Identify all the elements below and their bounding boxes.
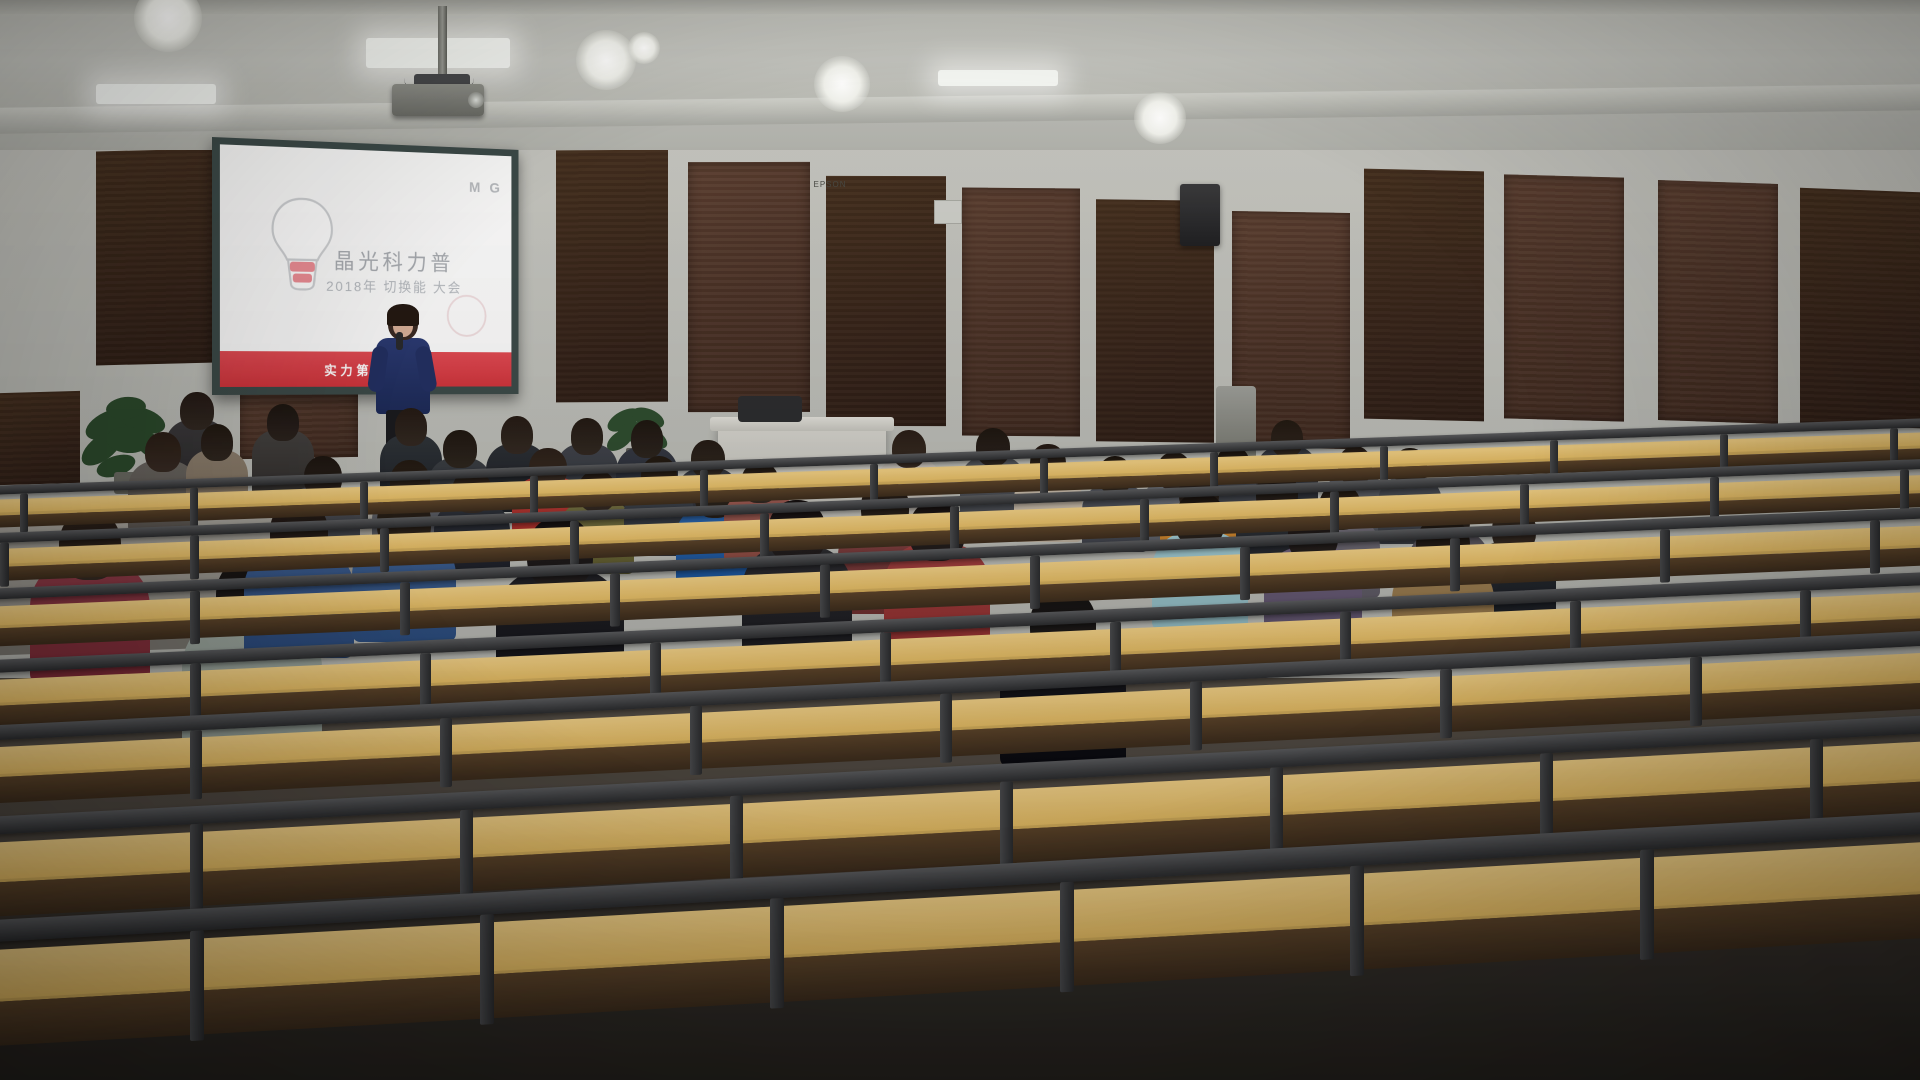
desk-rail-post xyxy=(1870,520,1880,573)
desk-rail-post xyxy=(460,810,473,899)
desk-rail-post xyxy=(1540,753,1553,842)
desk-rail-post xyxy=(760,513,769,557)
desk-rail-post xyxy=(700,470,708,509)
desk-rail-post xyxy=(1000,781,1013,870)
desk-rail-post xyxy=(1350,865,1364,976)
desk-rail-post xyxy=(0,543,9,587)
desk-rail-post xyxy=(1140,499,1149,543)
desk-rail-post xyxy=(1330,491,1339,535)
desk-rail-post xyxy=(480,914,494,1025)
desk-rail-post xyxy=(1640,849,1654,960)
desk-rail-post xyxy=(610,573,620,626)
desk-rail-post xyxy=(730,795,743,884)
desk-rail-post xyxy=(190,591,200,644)
desk-rail-post xyxy=(1190,681,1202,751)
desk-rail-post xyxy=(690,706,702,776)
desk-rail-post xyxy=(190,488,198,527)
desk-rail-post xyxy=(1520,484,1529,528)
desk-rail-post xyxy=(20,494,28,533)
desk-rail-post xyxy=(1060,882,1074,993)
desk-rail-post xyxy=(1810,739,1823,828)
desk-rail-post xyxy=(940,693,952,763)
desk-rail-post xyxy=(950,506,959,550)
desk-rail-post xyxy=(400,582,410,635)
desk-rail-post xyxy=(190,730,202,800)
desk-rail-post xyxy=(870,464,878,503)
desk-rail-post xyxy=(1450,538,1460,591)
desk-rail-post xyxy=(1040,458,1048,497)
desk-rail-post xyxy=(1240,547,1250,600)
lecture-hall-photo: EPSON M G 晶光科力普 2018年 切换能 大会 实力第一 xyxy=(0,0,1920,1080)
desk-rail-post xyxy=(1660,529,1670,582)
desk-rail-post xyxy=(190,824,203,913)
desk-rail-post xyxy=(1270,767,1283,856)
desk-rail-post xyxy=(380,528,389,572)
desk-rail-post xyxy=(570,521,579,565)
desk-rail-post xyxy=(360,482,368,521)
desk-rail-post xyxy=(1030,556,1040,609)
desk-rail-post xyxy=(1690,657,1702,727)
desk-rail-post xyxy=(190,930,204,1041)
desk-rail-post xyxy=(440,718,452,788)
desk-rail-post xyxy=(820,564,830,617)
desk-rail-post xyxy=(1900,470,1909,514)
desk-rail-post xyxy=(190,535,199,579)
desk-rail-post xyxy=(530,476,538,515)
desk-rail-post xyxy=(1440,669,1452,739)
desk-rail-post xyxy=(1710,477,1719,521)
desk-rows xyxy=(0,0,1920,1080)
desk-rail-post xyxy=(770,898,784,1009)
